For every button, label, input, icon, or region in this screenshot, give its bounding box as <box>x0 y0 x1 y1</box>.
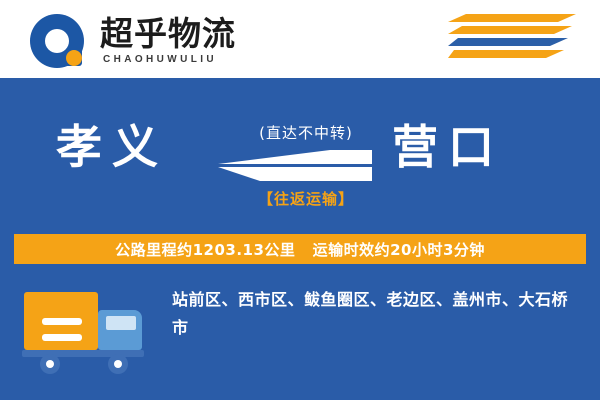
distance-duration-text: 公路里程约1203.13公里 运输时效约20小时3分钟 <box>115 239 485 260</box>
speed-stripes-icon <box>448 14 576 66</box>
logo-dot-shape <box>66 50 82 66</box>
truck-wheel-front <box>108 354 128 374</box>
direct-route-label: (直达不中转) <box>236 122 376 143</box>
truck-window-shape <box>106 316 136 330</box>
truck-stripe-2 <box>42 334 82 341</box>
poster-root: 超乎物流 CHAOHUWULIU 孝义 营口 (直达不中转) 【往返运输】 公路… <box>0 0 600 400</box>
brand-name-cn: 超乎物流 <box>100 15 236 53</box>
delivery-truck-icon <box>22 284 152 376</box>
logo-icon <box>30 14 88 72</box>
arrow-left-shape <box>218 167 372 181</box>
origin-city: 孝义 <box>56 120 168 174</box>
truck-wheel-rear <box>40 354 60 374</box>
districts-area: 站前区、西市区、鲅鱼圈区、老边区、盖州市、大石桥市 <box>14 274 586 386</box>
stripe-1 <box>448 14 576 22</box>
stripe-3 <box>448 38 576 46</box>
stripe-2 <box>448 26 576 34</box>
double-arrow-icon <box>218 150 372 182</box>
truck-stripe-1 <box>42 318 82 325</box>
brand-name-en: CHAOHUWULIU <box>103 54 217 65</box>
route-area: 孝义 营口 (直达不中转) 【往返运输】 <box>0 78 600 230</box>
header: 超乎物流 CHAOHUWULIU <box>0 0 600 78</box>
stripe-4 <box>448 50 576 58</box>
districts-list: 站前区、西市区、鲅鱼圈区、老边区、盖州市、大石桥市 <box>172 286 576 342</box>
destination-city: 营口 <box>392 120 504 174</box>
truck-cargo-shape <box>24 292 98 350</box>
round-trip-label: 【往返运输】 <box>226 188 386 209</box>
arrow-right-shape <box>218 150 372 164</box>
truck-base-shape <box>22 350 144 357</box>
main-panel: 孝义 营口 (直达不中转) 【往返运输】 公路里程约1203.13公里 运输时效… <box>0 78 600 400</box>
distance-duration-bar: 公路里程约1203.13公里 运输时效约20小时3分钟 <box>14 234 586 264</box>
